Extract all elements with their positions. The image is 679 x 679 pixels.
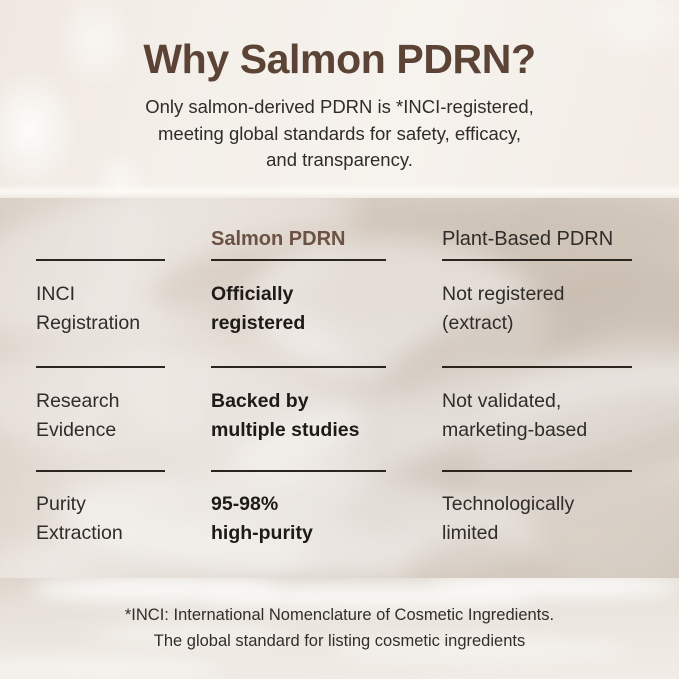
footnote-line-2: The global standard for listing cosmetic… [0, 628, 679, 654]
row-1-salmon-value: Officially registered [211, 280, 411, 338]
subtitle-line-2: meeting global standards for safety, eff… [0, 121, 679, 148]
row-2-salmon-line-1: Backed by [211, 387, 411, 416]
row-3-plant-value: Technologically limited [442, 490, 662, 548]
row-2-rule-col3 [442, 470, 632, 472]
row-1-plant-value: Not registered (extract) [442, 280, 662, 338]
infographic-card: Why Salmon PDRN? Only salmon-derived PDR… [0, 0, 679, 679]
row-1-plant-line-1: Not registered [442, 280, 662, 309]
row-1-criteria: INCI Registration [36, 280, 206, 338]
row-2-plant-line-1: Not validated, [442, 387, 662, 416]
subtitle-line-1: Only salmon-derived PDRN is *INCI-regist… [0, 94, 679, 121]
row-3-criteria-line-1: Purity [36, 490, 206, 519]
row-3-salmon-line-2: high-purity [211, 519, 411, 548]
row-3-criteria-line-2: Extraction [36, 519, 206, 548]
subtitle-line-3: and transparency. [0, 147, 679, 174]
footnote: *INCI: International Nomenclature of Cos… [0, 602, 679, 654]
page-subtitle: Only salmon-derived PDRN is *INCI-regist… [0, 94, 679, 174]
row-1-criteria-line-1: INCI [36, 280, 206, 309]
header-rule-col3 [442, 259, 632, 261]
row-1-plant-line-2: (extract) [442, 309, 662, 338]
row-3-salmon-line-1: 95-98% [211, 490, 411, 519]
row-2-criteria: Research Evidence [36, 387, 206, 445]
row-1-rule-col2 [211, 366, 386, 368]
header-rule-col2 [211, 259, 386, 261]
row-2-plant-value: Not validated, marketing-based [442, 387, 662, 445]
content-layer: Why Salmon PDRN? Only salmon-derived PDR… [0, 0, 679, 679]
row-1-rule-col3 [442, 366, 632, 368]
row-1-salmon-line-1: Officially [211, 280, 411, 309]
row-3-salmon-value: 95-98% high-purity [211, 490, 411, 548]
page-title: Why Salmon PDRN? [0, 36, 679, 83]
row-3-plant-line-1: Technologically [442, 490, 662, 519]
row-2-criteria-line-2: Evidence [36, 416, 206, 445]
row-2-rule-col2 [211, 470, 386, 472]
row-3-plant-line-2: limited [442, 519, 662, 548]
row-3-criteria: Purity Extraction [36, 490, 206, 548]
row-2-salmon-line-2: multiple studies [211, 416, 411, 445]
column-header-salmon-pdrn: Salmon PDRN [211, 226, 411, 252]
row-1-rule-col1 [36, 366, 165, 368]
row-1-criteria-line-2: Registration [36, 309, 206, 338]
column-header-plant-based-pdrn: Plant-Based PDRN [442, 226, 662, 252]
row-2-rule-col1 [36, 470, 165, 472]
row-1-salmon-line-2: registered [211, 309, 411, 338]
row-2-salmon-value: Backed by multiple studies [211, 387, 411, 445]
row-2-criteria-line-1: Research [36, 387, 206, 416]
footnote-line-1: *INCI: International Nomenclature of Cos… [0, 602, 679, 628]
header-rule-col1 [36, 259, 165, 261]
row-2-plant-line-2: marketing-based [442, 416, 662, 445]
